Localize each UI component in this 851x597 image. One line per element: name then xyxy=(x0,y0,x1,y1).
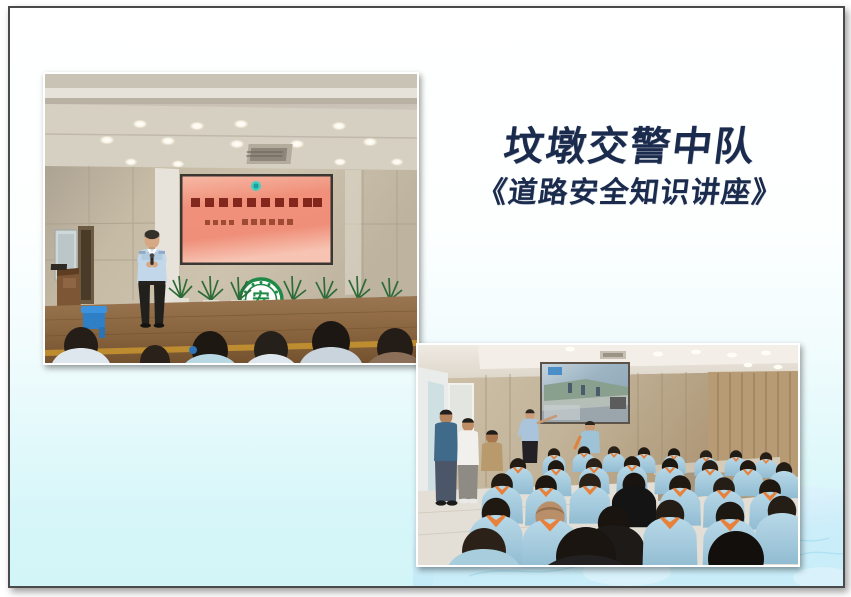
slide-title-block: 坟墩交警中队 《道路安全知识讲座》 xyxy=(450,126,810,246)
page-title-main: 坟墩交警中队 xyxy=(447,126,812,168)
photo-audience[interactable] xyxy=(416,343,800,567)
slide-root: 安 xyxy=(0,0,851,597)
slide-canvas: 安 xyxy=(8,6,845,588)
page-title-subtitle: 《道路安全知识讲座》 xyxy=(448,177,812,207)
photo-lecture-hall[interactable]: 安 xyxy=(43,72,419,365)
